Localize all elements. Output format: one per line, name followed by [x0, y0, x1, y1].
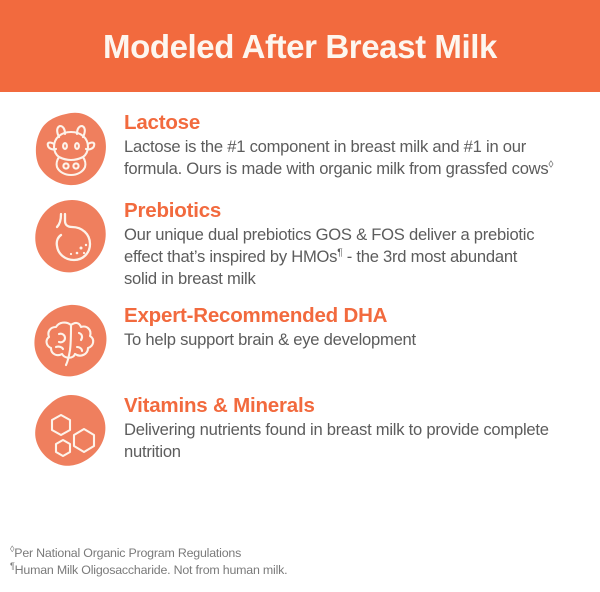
- benefit-body-text: Lactose is the #1 component in breast mi…: [124, 137, 548, 178]
- benefit-heading: Prebiotics: [124, 200, 580, 223]
- footnote-line-2: ¶Human Milk Oligosaccharide. Not from hu…: [10, 562, 600, 579]
- benefit-item-lactose: Lactose Lactose is the #1 component in b…: [0, 110, 600, 188]
- benefit-item-dha: Expert-Recommended DHA To help support b…: [0, 303, 600, 381]
- benefit-text-prebiotics: Prebiotics Our unique dual prebiotics GO…: [124, 198, 580, 291]
- benefits-list: Lactose Lactose is the #1 component in b…: [0, 92, 600, 545]
- footnotes: ◊Per National Organic Program Regulation…: [0, 545, 600, 592]
- footnote-text: Per National Organic Program Regulations: [14, 546, 241, 560]
- benefit-heading: Lactose: [124, 112, 580, 135]
- benefit-item-vitamins: Vitamins & Minerals Delivering nutrients…: [0, 393, 600, 471]
- header-band: Modeled After Breast Milk: [0, 0, 600, 92]
- brain-icon: [32, 303, 110, 381]
- hexagons-icon: [32, 393, 110, 471]
- page-title: Modeled After Breast Milk: [103, 30, 497, 63]
- footnote-text: Human Milk Oligosaccharide. Not from hum…: [15, 563, 288, 577]
- benefit-body: Delivering nutrients found in breast mil…: [124, 419, 554, 463]
- benefit-heading: Expert-Recommended DHA: [124, 305, 580, 328]
- benefit-body: To help support brain & eye development: [124, 329, 554, 351]
- infographic-panel: Modeled After Breast Milk: [0, 0, 600, 592]
- benefit-text-dha: Expert-Recommended DHA To help support b…: [124, 303, 580, 351]
- cow-icon: [32, 110, 110, 188]
- benefit-body: Our unique dual prebiotics GOS & FOS del…: [124, 224, 554, 291]
- footnote-ref-lozenge: ◊: [548, 160, 553, 171]
- benefit-heading: Vitamins & Minerals: [124, 395, 580, 418]
- benefit-text-lactose: Lactose Lactose is the #1 component in b…: [124, 110, 580, 180]
- stomach-icon: [32, 198, 110, 276]
- benefit-body: Lactose is the #1 component in breast mi…: [124, 136, 554, 180]
- footnote-line-1: ◊Per National Organic Program Regulation…: [10, 545, 600, 562]
- benefit-item-prebiotics: Prebiotics Our unique dual prebiotics GO…: [0, 198, 600, 291]
- benefit-text-vitamins: Vitamins & Minerals Delivering nutrients…: [124, 393, 580, 463]
